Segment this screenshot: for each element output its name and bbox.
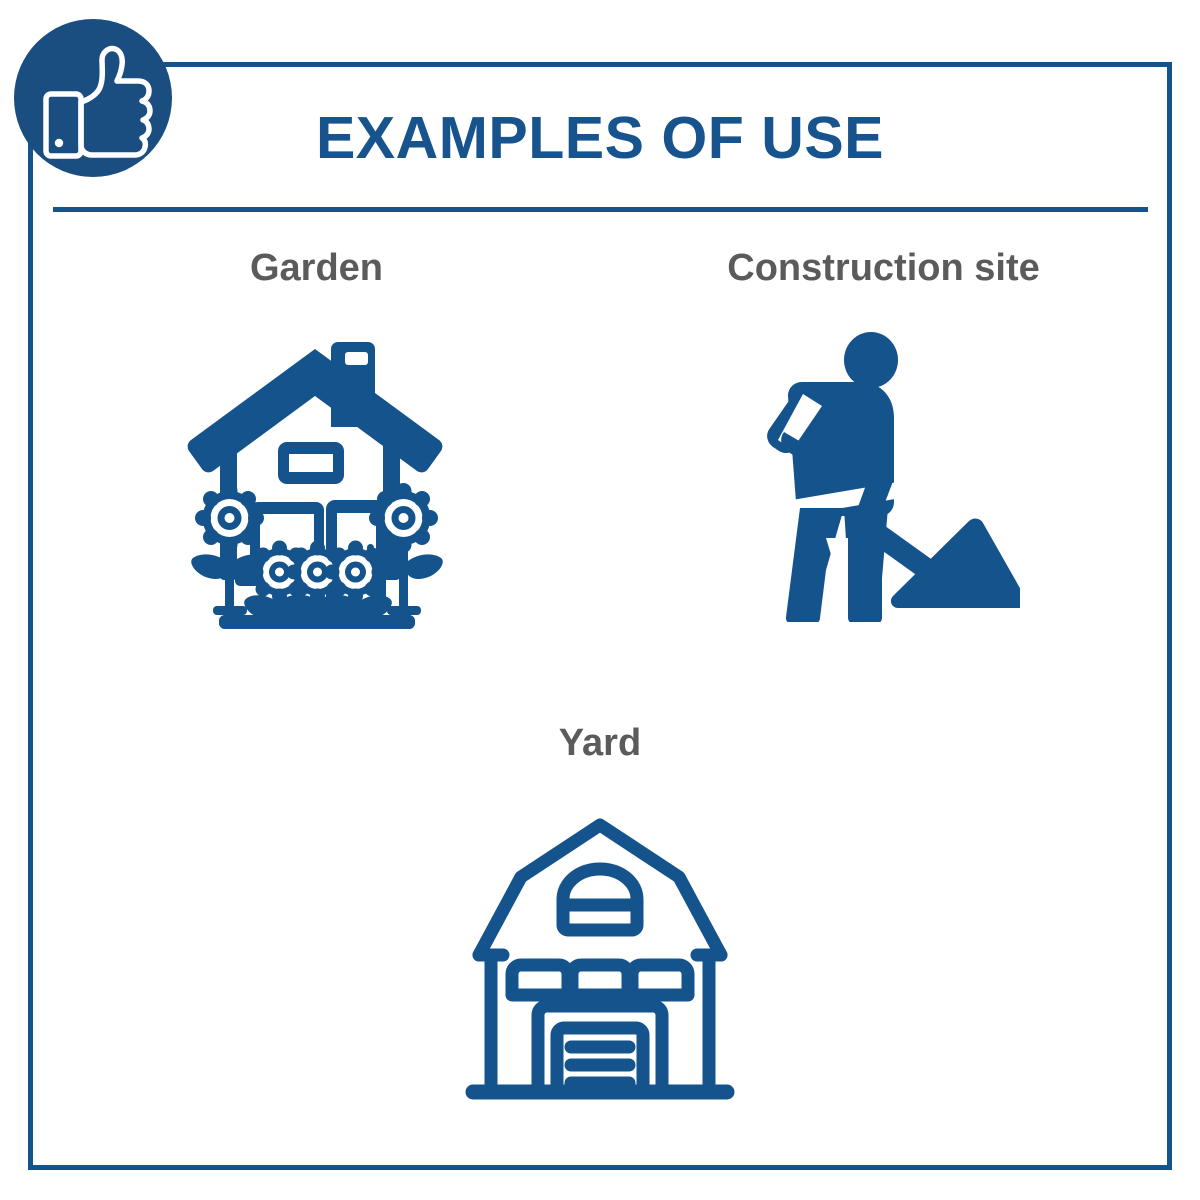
example-garden: Garden	[33, 225, 600, 695]
example-construction-site: Construction site	[600, 225, 1167, 695]
barn-icon	[463, 807, 738, 1102]
construction-icon-wrap	[748, 332, 1020, 622]
example-label-yard: Yard	[559, 723, 641, 765]
examples-of-use-panel: EXAMPLES OF USE Garden	[0, 0, 1200, 1200]
example-label-construction-site: Construction site	[727, 248, 1039, 290]
thumbs-up-badge	[14, 19, 172, 177]
title-row: EXAMPLES OF USE	[28, 90, 1172, 185]
example-yard: Yard	[33, 695, 1167, 1160]
examples-row-1: Garden	[33, 225, 1167, 695]
worker-with-shovel-icon	[748, 332, 1020, 622]
thumbs-up-icon	[14, 19, 172, 177]
example-label-garden: Garden	[250, 248, 383, 290]
page-title: EXAMPLES OF USE	[316, 104, 884, 172]
examples-grid: Garden	[33, 225, 1167, 1160]
examples-row-2: Yard	[33, 695, 1167, 1160]
garden-icon-wrap	[183, 332, 451, 632]
yard-icon-wrap	[463, 807, 738, 1102]
title-divider	[53, 207, 1148, 212]
house-with-flowers-icon	[183, 332, 451, 632]
